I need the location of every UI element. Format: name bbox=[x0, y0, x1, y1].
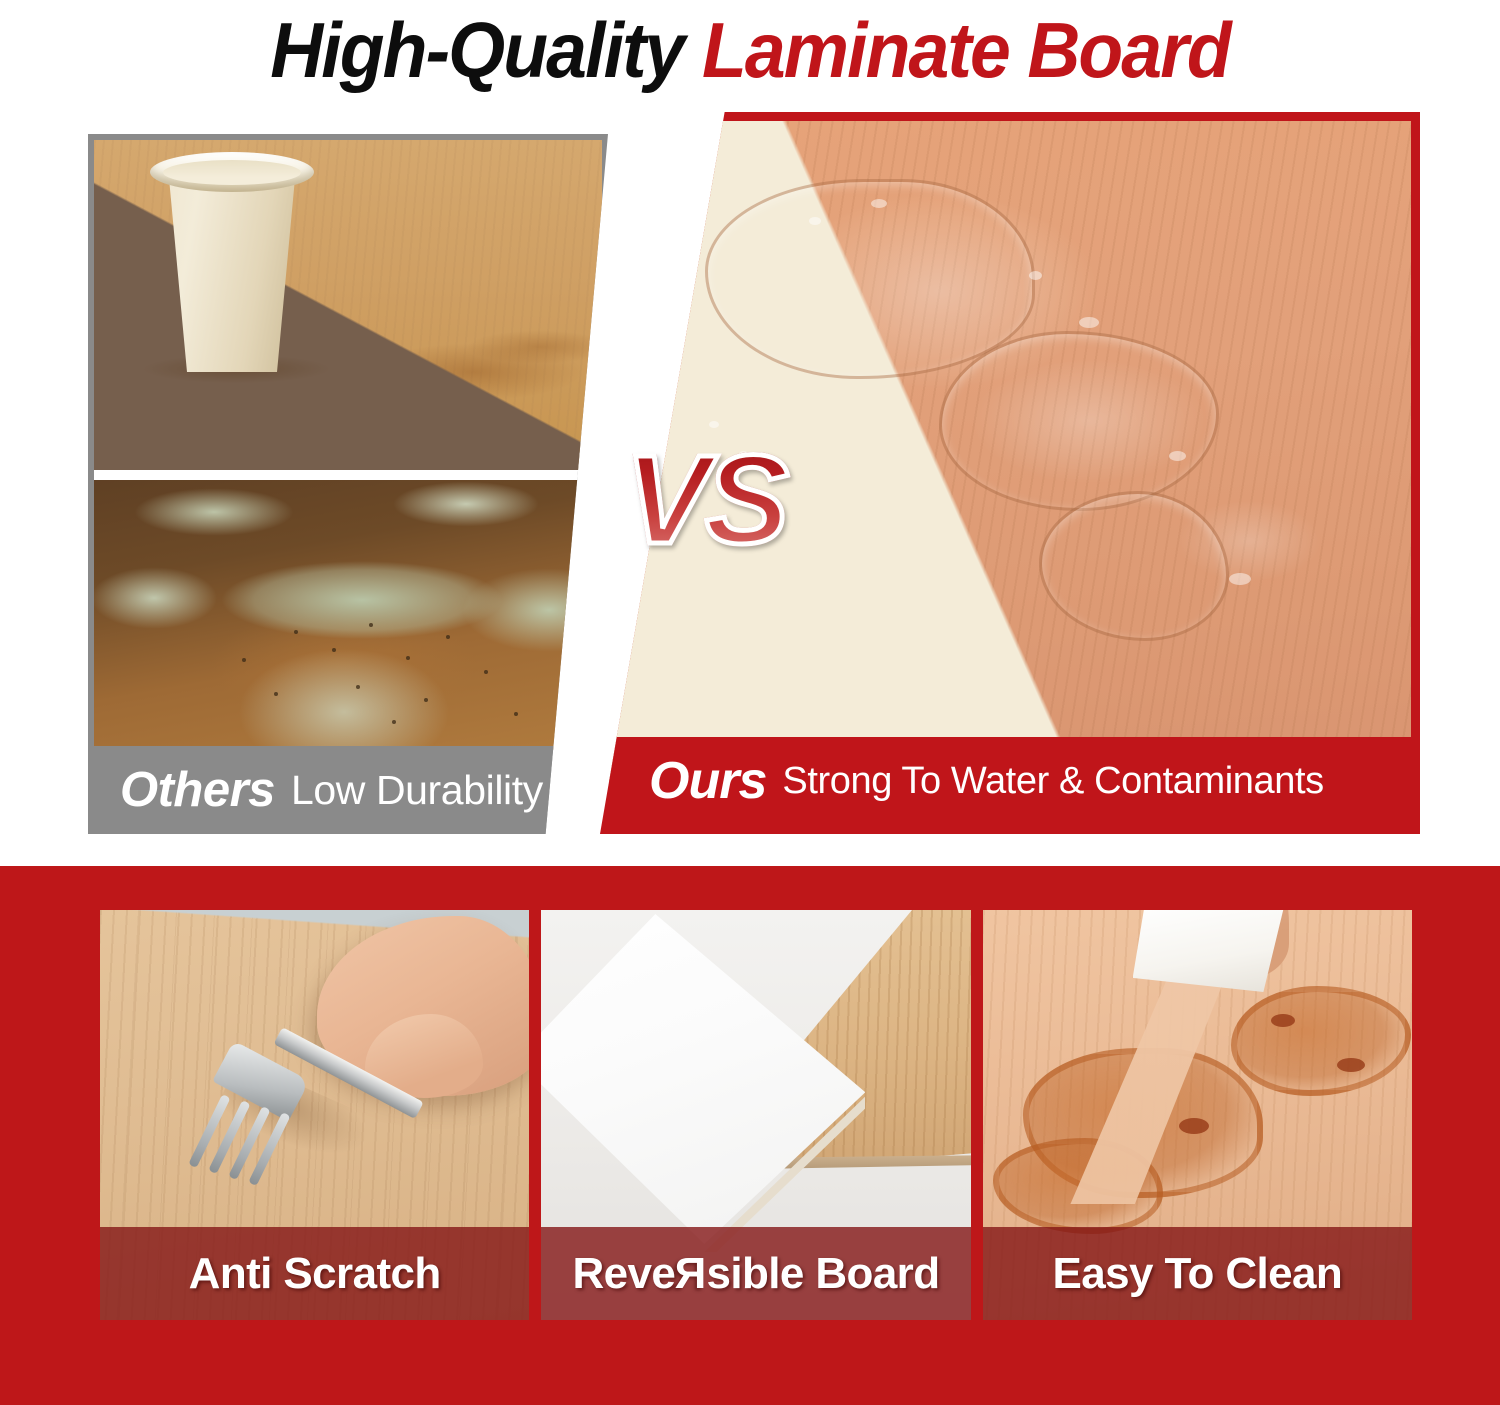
panel-divider bbox=[94, 470, 602, 480]
water-droplet bbox=[809, 217, 821, 225]
page-title: High-Quality Laminate Board bbox=[45, 4, 1455, 96]
sauce-blob bbox=[1337, 1058, 1365, 1072]
others-caption-bar: Others Low Durability bbox=[94, 746, 602, 834]
sauce-blob bbox=[1271, 1014, 1295, 1027]
ours-label: Ours bbox=[649, 751, 766, 811]
mold-speck bbox=[356, 685, 360, 689]
feature-label-text-prefix: Reve bbox=[572, 1249, 675, 1299]
mold-speck bbox=[406, 656, 410, 660]
mold-speck bbox=[446, 635, 450, 639]
product-infographic: High-Quality Laminate Board bbox=[0, 0, 1500, 1405]
water-bead-large bbox=[705, 179, 1035, 379]
cleaning-cloth bbox=[1133, 910, 1285, 992]
feature-card-anti-scratch: Anti Scratch bbox=[100, 910, 529, 1320]
mold-speck bbox=[514, 712, 518, 716]
features-row: Anti Scratch ReveRsible Board bbox=[100, 910, 1412, 1320]
water-droplet bbox=[1029, 271, 1042, 280]
others-spill-image bbox=[94, 140, 602, 470]
mold-speck bbox=[274, 692, 278, 696]
water-droplet bbox=[1169, 451, 1186, 461]
sauce-stain-right bbox=[1231, 986, 1411, 1096]
ours-sublabel: Strong To Water & Contaminants bbox=[782, 760, 1323, 803]
others-label: Others bbox=[120, 762, 275, 818]
water-droplet bbox=[871, 199, 887, 208]
mold-speck bbox=[392, 720, 396, 724]
feature-label-easy-to-clean: Easy To Clean bbox=[983, 1227, 1412, 1320]
feature-label-text: Easy To Clean bbox=[1052, 1249, 1342, 1299]
water-bead-small bbox=[1039, 491, 1229, 641]
comparison-section: Others Low Durability Ours bbox=[0, 112, 1500, 842]
mold-speck bbox=[369, 623, 373, 627]
paper-cup bbox=[157, 162, 307, 372]
others-sublabel: Low Durability bbox=[291, 767, 543, 814]
mold-speck bbox=[484, 670, 488, 674]
ours-caption-bar: Ours Strong To Water & Contaminants bbox=[609, 737, 1411, 825]
features-section: Anti Scratch ReveRsible Board bbox=[0, 866, 1500, 1405]
mold-speck bbox=[424, 698, 428, 702]
title-part-accent: Laminate Board bbox=[684, 6, 1230, 94]
water-droplet bbox=[1229, 573, 1251, 585]
feature-card-reversible-board: ReveRsible Board bbox=[541, 910, 970, 1320]
paper-cup-rim bbox=[150, 152, 314, 192]
others-panel-inner: Others Low Durability bbox=[94, 140, 602, 834]
reversed-r-glyph: R bbox=[675, 1249, 706, 1299]
water-droplet bbox=[1079, 317, 1099, 328]
feature-label-reversible-board: ReveRsible Board bbox=[541, 1227, 970, 1320]
others-panel: Others Low Durability bbox=[88, 134, 608, 834]
others-mold-image bbox=[94, 480, 602, 750]
vs-badge: VS bbox=[600, 430, 810, 570]
water-droplet bbox=[709, 421, 719, 428]
feature-label-text-suffix: sible Board bbox=[706, 1249, 939, 1299]
sauce-blob bbox=[1179, 1118, 1209, 1134]
mold-speck bbox=[294, 630, 298, 634]
title-part-primary: High-Quality bbox=[270, 6, 683, 94]
water-bead-mid bbox=[939, 331, 1219, 511]
white-laminate-sheet bbox=[541, 914, 865, 1244]
mold-speck bbox=[332, 648, 336, 652]
feature-label-anti-scratch: Anti Scratch bbox=[100, 1227, 529, 1320]
feature-card-easy-to-clean: Easy To Clean bbox=[983, 910, 1412, 1320]
feature-label-text: Anti Scratch bbox=[189, 1249, 441, 1299]
mold-speck bbox=[242, 658, 246, 662]
